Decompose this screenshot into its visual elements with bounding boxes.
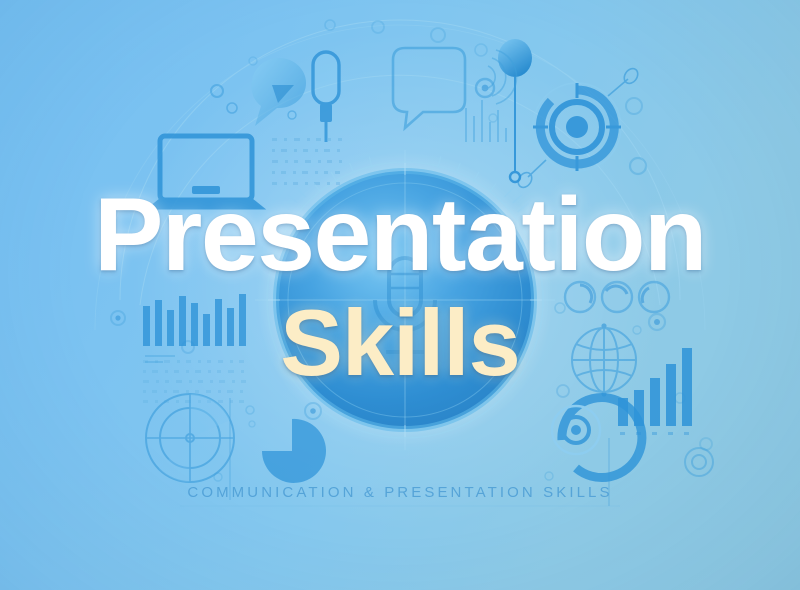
subtitle-caption: COMMUNICATION & PRESENTATION SKILLS xyxy=(0,484,800,501)
title-block: Presentation Skills COMMUNICATION & PRES… xyxy=(0,0,800,590)
page-title-secondary: Skills xyxy=(0,296,800,390)
page-title-primary: Presentation xyxy=(0,183,800,287)
presentation-skills-banner: Presentation Skills COMMUNICATION & PRES… xyxy=(0,0,800,590)
